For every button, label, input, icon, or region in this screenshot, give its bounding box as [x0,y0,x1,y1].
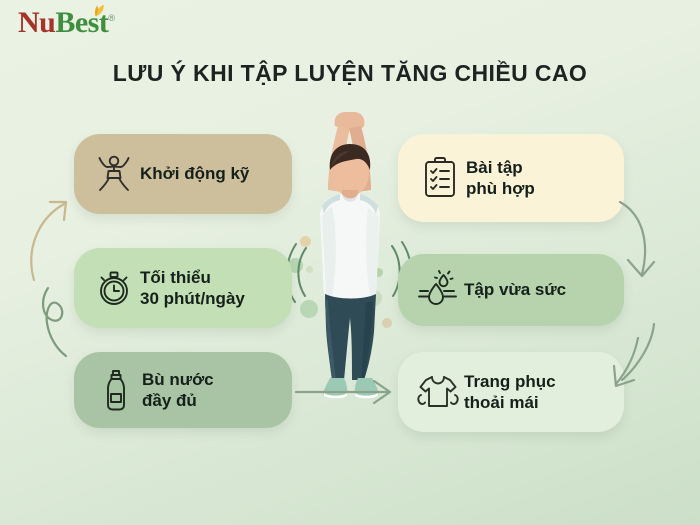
card-warmup[interactable]: Khởi động kỹ [74,134,292,214]
card-warmup-label: Khởi động kỹ [140,163,280,184]
page-title: LƯU Ý KHI TẬP LUYỆN TĂNG CHIỀU CAO [0,60,700,87]
stopwatch-icon [88,262,140,314]
figure-head [330,144,371,196]
nubest-logo: NuBest® [18,8,115,38]
sweat-drop-icon [412,264,464,316]
card-exercise-label: Bài tập phù hợp [466,157,612,200]
leaf-icon [87,4,105,18]
logo-text-nu: Nu [18,6,55,39]
card-exercise[interactable]: Bài tập phù hợp [398,134,624,222]
tshirt-icon [412,366,464,418]
card-duration[interactable]: Tối thiểu 30 phút/ngày [74,248,292,328]
infographic-canvas: NuBest® LƯU Ý KHI TẬP LUYỆN TĂNG CHIỀU C… [0,0,700,525]
card-hydrate[interactable]: Bù nước đầy đủ [74,352,292,428]
figure-shirt [320,194,380,301]
card-moderate[interactable]: Tập vừa sức [398,254,624,326]
stretching-person-icon [88,148,140,200]
card-clothes-label: Trang phục thoải mái [464,371,612,414]
card-moderate-label: Tập vừa sức [464,279,612,300]
curved-arrow-up-icon [24,190,80,286]
clipboard-checklist-icon [414,152,466,204]
figure-shoes [323,378,378,398]
water-bottle-icon [90,364,142,416]
logo-trademark: ® [108,13,114,23]
figure-pants [325,294,376,380]
card-clothes[interactable]: Trang phục thoải mái [398,352,624,432]
card-hydrate-label: Bù nước đầy đủ [142,369,280,412]
card-duration-label: Tối thiểu 30 phút/ngày [140,267,280,310]
